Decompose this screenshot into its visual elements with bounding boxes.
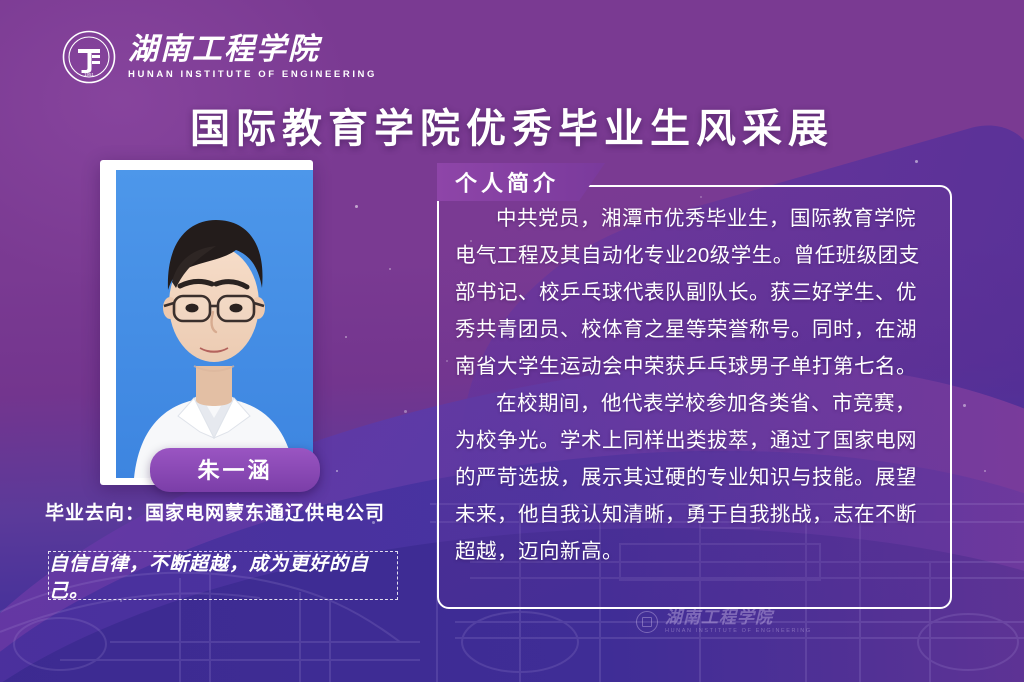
sparkle-dot: [984, 470, 986, 472]
motto-box: 自信自律，不断超越，成为更好的自己。: [48, 551, 398, 600]
logo-institution-en: HUNAN INSTITUTE OF ENGINEERING: [128, 69, 377, 80]
sparkle-dot: [963, 404, 966, 407]
sparkle-dot: [915, 160, 918, 163]
motto-text: 自信自律，不断超越，成为更好的自己。: [49, 549, 397, 603]
graduate-destination: 毕业去向：国家电网蒙东通辽供电公司: [0, 498, 430, 525]
sparkle-dot: [336, 470, 338, 472]
sparkle-dot: [355, 205, 358, 208]
page-title: 国际教育学院优秀毕业生风采展: [0, 96, 1024, 154]
university-logo: 1951 湖南工程学院 HUNAN INSTITUTE OF ENGINEERI…: [62, 30, 377, 84]
profile-paragraph: 中共党员，湘潭市优秀毕业生，国际教育学院电气工程及其自动化专业20级学生。曾任班…: [455, 200, 933, 385]
svg-text:1951: 1951: [84, 72, 94, 77]
university-seal-watermark-icon: [636, 611, 658, 633]
watermark-institution-en: HUNAN INSTITUTE OF ENGINEERING: [665, 628, 812, 634]
profile-panel-tab-label: 个人简介: [455, 166, 559, 198]
profile-panel-body: 中共党员，湘潭市优秀毕业生，国际教育学院电气工程及其自动化专业20级学生。曾任班…: [455, 200, 933, 590]
sparkle-dot: [404, 410, 407, 413]
bottom-watermark-seal: 湖南工程学院 HUNAN INSTITUTE OF ENGINEERING: [636, 609, 812, 634]
headshot-illustration-icon: [116, 170, 313, 478]
profile-paragraph: 在校期间，他代表学校参加各类省、市竞赛，为校争光。学术上同样出类拔萃，通过了国家…: [455, 385, 933, 570]
sparkle-dot: [345, 336, 347, 338]
profile-panel-tab: 个人简介: [437, 163, 605, 201]
graduate-showcase-poster: 湖南工程学院 HUNAN INSTITUTE OF ENGINEERING 19…: [0, 0, 1024, 682]
graduate-photo: [116, 170, 313, 478]
watermark-institution-cn: 湖南工程学院: [665, 609, 812, 626]
university-seal-icon: 1951: [62, 30, 116, 84]
graduate-name-badge: 朱一涵: [150, 448, 320, 492]
sparkle-dot: [389, 268, 391, 270]
logo-institution-cn: 湖南工程学院: [128, 34, 377, 66]
